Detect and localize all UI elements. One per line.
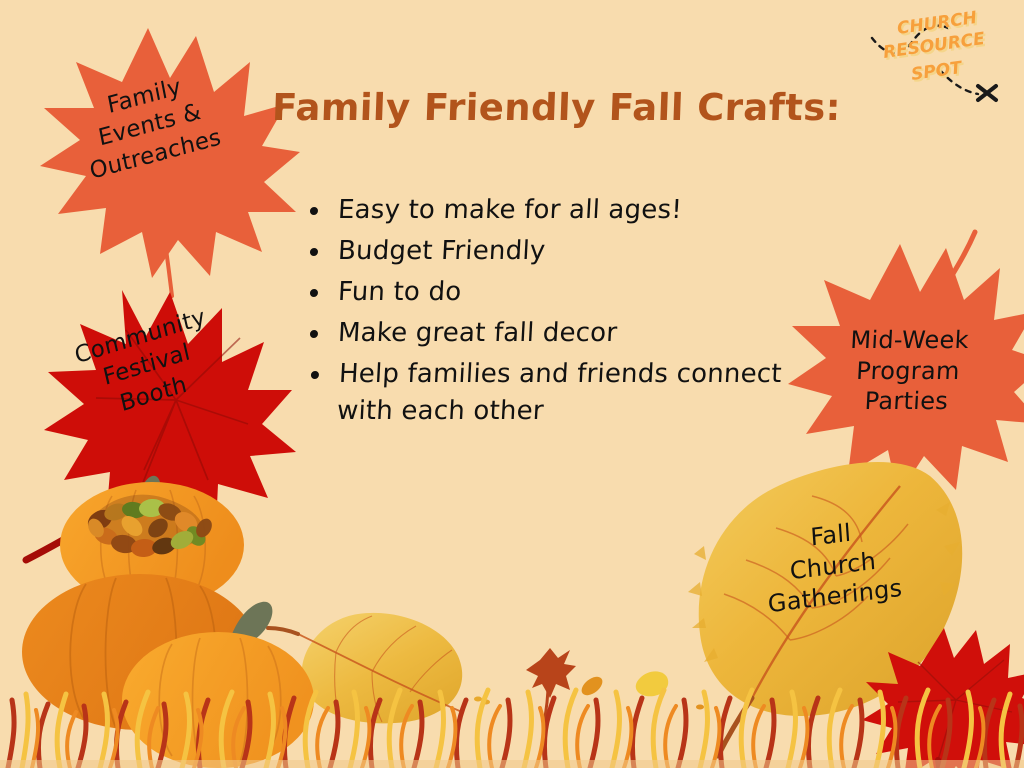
benefits-list: Easy to make for all ages! Budget Friend… bbox=[300, 192, 800, 433]
list-item: Easy to make for all ages! bbox=[299, 192, 801, 229]
list-item: Help families and friends connect with e… bbox=[298, 356, 802, 430]
page-title: Family Friendly Fall Crafts: bbox=[271, 86, 893, 129]
small-floating-leaf-amber bbox=[578, 673, 606, 699]
fall-crafts-poster: CHURCH CHURCH RESOURCE RESOURCE SPOT SPO… bbox=[0, 0, 1024, 768]
list-item: Make great fall decor bbox=[299, 315, 801, 352]
list-item: Budget Friendly bbox=[299, 233, 801, 270]
logo-wordmark: CHURCH CHURCH RESOURCE RESOURCE SPOT SPO… bbox=[882, 8, 989, 87]
logo-x-marks-the-spot-icon bbox=[978, 86, 996, 100]
list-item: Fun to do bbox=[299, 274, 801, 311]
leaf-label-midweek-parties: Mid-Week Program Parties bbox=[816, 325, 1001, 417]
